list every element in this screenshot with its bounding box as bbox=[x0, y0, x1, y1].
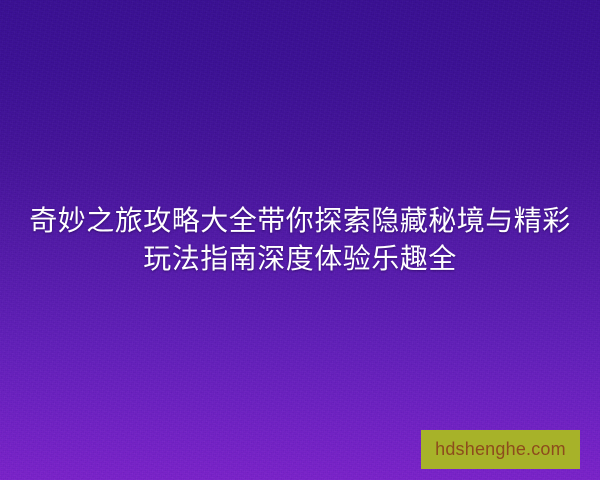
poster-canvas: 奇妙之旅攻略大全带你探索隐藏秘境与精彩玩法指南深度体验乐趣全 hdshenghe… bbox=[0, 0, 600, 480]
watermark-badge: hdshenghe.com bbox=[421, 430, 580, 469]
page-title: 奇妙之旅攻略大全带你探索隐藏秘境与精彩玩法指南深度体验乐趣全 bbox=[28, 202, 572, 278]
watermark-label: hdshenghe.com bbox=[435, 439, 566, 460]
headline-block: 奇妙之旅攻略大全带你探索隐藏秘境与精彩玩法指南深度体验乐趣全 bbox=[0, 0, 600, 480]
